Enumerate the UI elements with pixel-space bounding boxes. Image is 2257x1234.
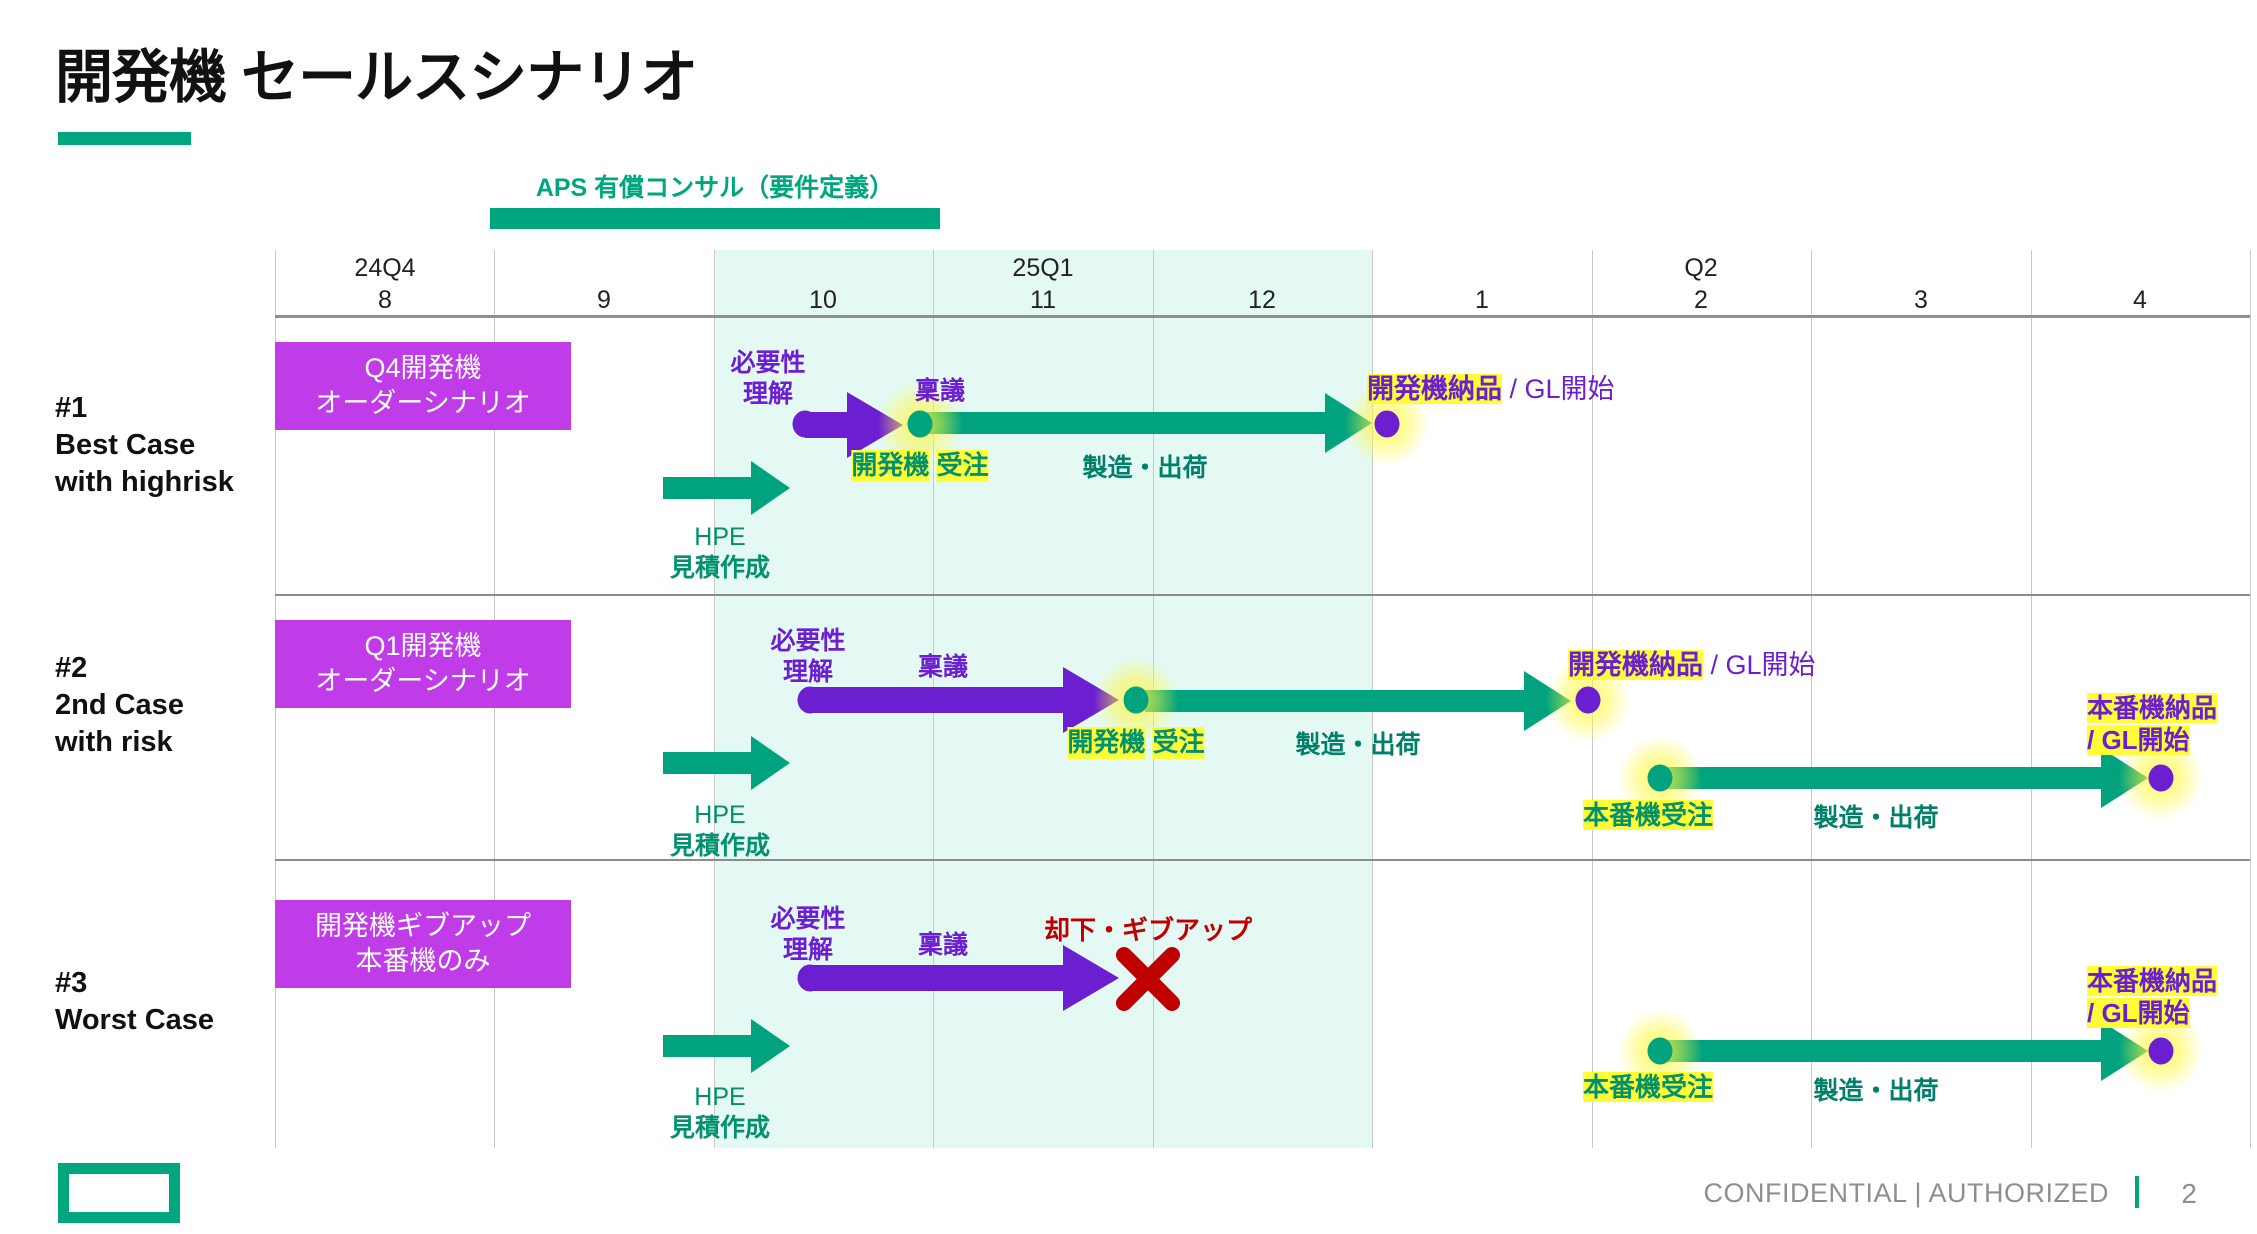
delivery-label-row2: 開発機納品 / GL開始 xyxy=(1568,649,1816,682)
footer-confidential-text: CONFIDENTIAL | AUTHORIZED xyxy=(1703,1178,2109,1209)
chip-line1-2: Q1開発機 xyxy=(275,629,571,664)
timeline-chart: 24Q4 25Q1 Q2 8 9 10 11 12 1 2 3 4 xyxy=(275,250,2250,1148)
prod-delivery-label-row2: 本番機納品 / GL開始 xyxy=(2087,693,2217,756)
delivery-rest-row2: / GL開始 xyxy=(1703,650,1816,680)
delivery-label-row1: 開発機納品 / GL開始 xyxy=(1367,373,1615,406)
prod-order-text-row3: 本番機受注 xyxy=(1583,1072,1713,1102)
dot-need-row2 xyxy=(798,687,823,714)
dot-need-row1 xyxy=(793,411,818,438)
dot-prod-delivery-row3 xyxy=(2149,1038,2174,1065)
hpe-quote-line2-row1: 見積作成 xyxy=(670,553,770,584)
delivery-highlight-row2: 開発機納品 xyxy=(1568,650,1703,680)
ringi-label-row3: 稟議 xyxy=(918,930,968,961)
chip-line2-3: 本番機のみ xyxy=(275,944,571,979)
need-line2-row3: 理解 xyxy=(770,935,845,966)
dot-dev-order-row2 xyxy=(1124,687,1149,714)
scenario-chip-2[interactable]: Q1開発機 オーダーシナリオ xyxy=(275,620,571,708)
case-number-3: #3 xyxy=(55,965,214,1002)
quarter-label-25q1: 25Q1 xyxy=(1012,254,1073,283)
delivery-highlight-row1: 開発機納品 xyxy=(1367,374,1502,404)
hpe-quote-label-row2: HPE 見積作成 xyxy=(670,800,770,861)
dot-prod-order-row3 xyxy=(1648,1038,1673,1065)
chip-line2-1: オーダーシナリオ xyxy=(275,386,571,421)
need-understanding-label-row3: 必要性 理解 xyxy=(770,904,845,965)
need-line2-row2: 理解 xyxy=(770,657,845,688)
grid-col-line xyxy=(2031,250,2032,1148)
need-line1-row1: 必要性 xyxy=(730,348,805,379)
rejected-giveup-label-row3: 却下・ギブアップ xyxy=(1044,915,1252,947)
timeline-axis-line xyxy=(275,315,2250,318)
month-label-9: 9 xyxy=(597,286,611,315)
chip-line2-2: オーダーシナリオ xyxy=(275,664,571,699)
prod-delivery-line1-row3: 本番機納品 xyxy=(2087,966,2217,996)
prod-delivery-line2-row3: / GL開始 xyxy=(2087,998,2190,1028)
scenario-chip-1[interactable]: Q4開発機 オーダーシナリオ xyxy=(275,342,571,430)
hpe-quote-line2-row2: 見積作成 xyxy=(670,831,770,862)
grid-col-line xyxy=(714,250,715,1148)
case-line2-3: Worst Case xyxy=(55,1002,214,1039)
title-underline-rule xyxy=(58,132,191,145)
prod-delivery-line1-row2: 本番機納品 xyxy=(2087,693,2217,723)
dot-prod-order-row2 xyxy=(1648,765,1673,792)
footer-page-number: 2 xyxy=(2181,1178,2197,1210)
month-label-3: 3 xyxy=(1914,286,1928,315)
month-label-11: 11 xyxy=(1030,286,1056,315)
hpe-quote-label-row3: HPE 見積作成 xyxy=(670,1082,770,1143)
dev-order-line2-row2: 受注 xyxy=(1153,727,1205,759)
prod-order-text-row2: 本番機受注 xyxy=(1583,800,1713,830)
case-line3-2: with risk xyxy=(55,724,184,761)
page-title: 開発機 セールスシナリオ xyxy=(55,30,697,114)
grid-col-line xyxy=(2250,250,2251,1148)
dev-order-label-row1: 開発機 受注 xyxy=(851,450,988,482)
delivery-rest-row1: / GL開始 xyxy=(1502,374,1615,404)
month-label-2: 2 xyxy=(1694,286,1708,315)
month-label-4: 4 xyxy=(2133,286,2147,315)
manufacture-label-row2: 製造・出荷 xyxy=(1295,730,1420,761)
hpe-quote-line1-row2: HPE xyxy=(670,800,770,831)
prod-delivery-label-row3: 本番機納品 / GL開始 xyxy=(2087,966,2217,1029)
hpe-quote-line2-row3: 見積作成 xyxy=(670,1113,770,1144)
dot-prod-delivery-row2 xyxy=(2149,765,2174,792)
case-label-3: #3 Worst Case xyxy=(55,965,214,1039)
need-understanding-label-row2: 必要性 理解 xyxy=(770,626,845,687)
chip-line1-1: Q4開発機 xyxy=(275,351,571,386)
aps-consult-label: APS 有償コンサル（要件定義） xyxy=(536,168,894,204)
quarter-label-q2: Q2 xyxy=(1684,254,1717,283)
dev-order-line2-row1: 受注 xyxy=(937,450,989,482)
ringi-label-row1: 稟議 xyxy=(915,376,965,407)
hpe-quote-label-row1: HPE 見積作成 xyxy=(670,522,770,583)
hpe-quote-line1-row3: HPE xyxy=(670,1082,770,1113)
month-label-8: 8 xyxy=(378,286,392,315)
need-line1-row3: 必要性 xyxy=(770,904,845,935)
aps-consult-bar xyxy=(490,208,940,229)
chip-line1-3: 開発機ギブアップ xyxy=(275,909,571,944)
month-label-12: 12 xyxy=(1248,286,1276,315)
dev-order-line1-row2: 開発機 xyxy=(1067,727,1145,759)
prod-order-label-row2: 本番機受注 xyxy=(1583,800,1713,832)
case-line3-1: with highrisk xyxy=(55,464,234,501)
dev-order-line1-row1: 開発機 xyxy=(851,450,929,482)
manufacture-label-row3: 製造・出荷 xyxy=(1813,1076,1938,1107)
dot-need-row3 xyxy=(798,965,823,992)
case-line2-2: 2nd Case xyxy=(55,687,184,724)
prod-delivery-line2-row2: / GL開始 xyxy=(2087,725,2190,755)
prod-order-label-row3: 本番機受注 xyxy=(1583,1072,1713,1104)
dot-dev-order-row1 xyxy=(908,411,933,438)
case-label-1: #1 Best Case with highrisk xyxy=(55,390,234,501)
manufacture-label-row1: 製造・出荷 xyxy=(1082,453,1207,484)
case-line2-1: Best Case xyxy=(55,427,234,464)
case-number-2: #2 xyxy=(55,650,184,687)
manufacture2-label-row2: 製造・出荷 xyxy=(1813,803,1938,834)
need-line2-row1: 理解 xyxy=(730,379,805,410)
need-understanding-label-row1: 必要性 理解 xyxy=(730,348,805,409)
case-number-1: #1 xyxy=(55,390,234,427)
scenario-chip-3[interactable]: 開発機ギブアップ 本番機のみ xyxy=(275,900,571,988)
quarter-label-24q4: 24Q4 xyxy=(354,254,415,283)
hpe-quote-line1-row1: HPE xyxy=(670,522,770,553)
footer-divider xyxy=(2135,1176,2139,1208)
dot-delivery-row2 xyxy=(1576,687,1601,714)
grid-col-line xyxy=(1811,250,1812,1148)
row-separator-2 xyxy=(275,859,2250,861)
need-line1-row2: 必要性 xyxy=(770,626,845,657)
ringi-label-row2: 稟議 xyxy=(918,652,968,683)
month-label-10: 10 xyxy=(809,286,837,315)
month-label-1: 1 xyxy=(1475,286,1489,315)
hpe-logo xyxy=(58,1163,180,1223)
case-label-2: #2 2nd Case with risk xyxy=(55,650,184,761)
dev-order-label-row2: 開発機 受注 xyxy=(1067,727,1204,759)
dot-delivery-row1 xyxy=(1375,411,1400,438)
row-separator-1 xyxy=(275,594,2250,596)
